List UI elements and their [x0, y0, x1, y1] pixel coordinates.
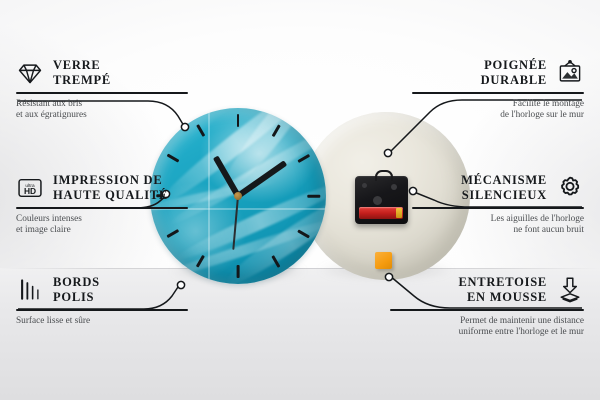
mechanism-hanger-hook	[375, 170, 393, 181]
diamond-icon	[16, 59, 44, 87]
clock-hour-marker	[307, 195, 320, 198]
clock-hour-marker	[237, 114, 240, 127]
feature-header: ENTRETOISE EN MOUSSE	[372, 275, 584, 304]
mechanism-detail-dot	[373, 196, 382, 205]
feature-description-line1: Couleurs intenses	[16, 214, 206, 225]
ultra-hd-icon: ultra HD	[16, 174, 44, 202]
feature-description-line2: et image claire	[16, 225, 206, 236]
feature-divider	[412, 207, 584, 209]
feature-description-line2: de l'horloge sur le mur	[394, 110, 584, 121]
clock-center-hub	[234, 192, 242, 200]
feature-callout-verre-trempe[interactable]: VERRE TREMPÉ Résistant aux bris et aux é…	[16, 58, 206, 121]
feature-title: BORDS POLIS	[53, 275, 100, 304]
feature-divider	[16, 92, 188, 94]
feature-callout-mecanisme[interactable]: MÉCANISME SILENCIEUX Les aiguilles de l'…	[394, 173, 584, 236]
feature-callout-entretoise[interactable]: ENTRETOISE EN MOUSSE Permet de maintenir…	[372, 275, 584, 338]
clock-hour-marker	[196, 124, 205, 137]
feature-callout-impression[interactable]: ultra HD IMPRESSION DE HAUTE QUALITÉ Cou…	[16, 173, 206, 236]
feature-description-line1: Résistant aux bris	[16, 99, 206, 110]
gear-icon	[556, 174, 584, 202]
svg-text:HD: HD	[24, 186, 36, 196]
feature-description-line1: Surface lisse et sûre	[16, 316, 206, 327]
feature-description-line2: ne font aucun bruit	[394, 225, 584, 236]
feature-callout-poignee[interactable]: POIGNÉE DURABLE Facilite le montage de l…	[394, 58, 584, 121]
feature-description-line2: et aux égratignures	[16, 110, 206, 121]
feature-divider	[390, 309, 584, 311]
feature-description-line1: Les aiguilles de l'horloge	[394, 214, 584, 225]
mechanism-detail-dot	[362, 183, 367, 188]
feature-divider	[16, 207, 188, 209]
feature-title: MÉCANISME SILENCIEUX	[461, 173, 547, 202]
foam-spacer	[375, 252, 392, 269]
feature-header: ultra HD IMPRESSION DE HAUTE QUALITÉ	[16, 173, 206, 202]
picture-frame-icon	[556, 59, 584, 87]
feature-description-line2: uniforme entre l'horloge et le mur	[372, 327, 584, 338]
feature-header: VERRE TREMPÉ	[16, 58, 206, 87]
feature-title: VERRE TREMPÉ	[53, 58, 111, 87]
feature-callout-bords-polis[interactable]: BORDS POLIS Surface lisse et sûre	[16, 275, 206, 327]
diagonal-lines-icon	[16, 276, 44, 304]
clock-hour-marker	[166, 154, 179, 163]
feature-description-line1: Permet de maintenir une distance	[372, 316, 584, 327]
glass-reflection-vertical	[208, 108, 210, 284]
feature-divider	[412, 92, 584, 94]
feature-header: BORDS POLIS	[16, 275, 206, 304]
arrow-press-layers-icon	[556, 276, 584, 304]
feature-title: IMPRESSION DE HAUTE QUALITÉ	[53, 173, 168, 202]
feature-title: ENTRETOISE EN MOUSSE	[458, 275, 547, 304]
feature-divider	[16, 309, 188, 311]
feature-header: POIGNÉE DURABLE	[394, 58, 584, 87]
clock-hour-marker	[237, 265, 240, 278]
feature-header: MÉCANISME SILENCIEUX	[394, 173, 584, 202]
infographic-canvas: VERRE TREMPÉ Résistant aux bris et aux é…	[0, 0, 600, 400]
feature-description-line1: Facilite le montage	[394, 99, 584, 110]
feature-title: POIGNÉE DURABLE	[481, 58, 547, 87]
